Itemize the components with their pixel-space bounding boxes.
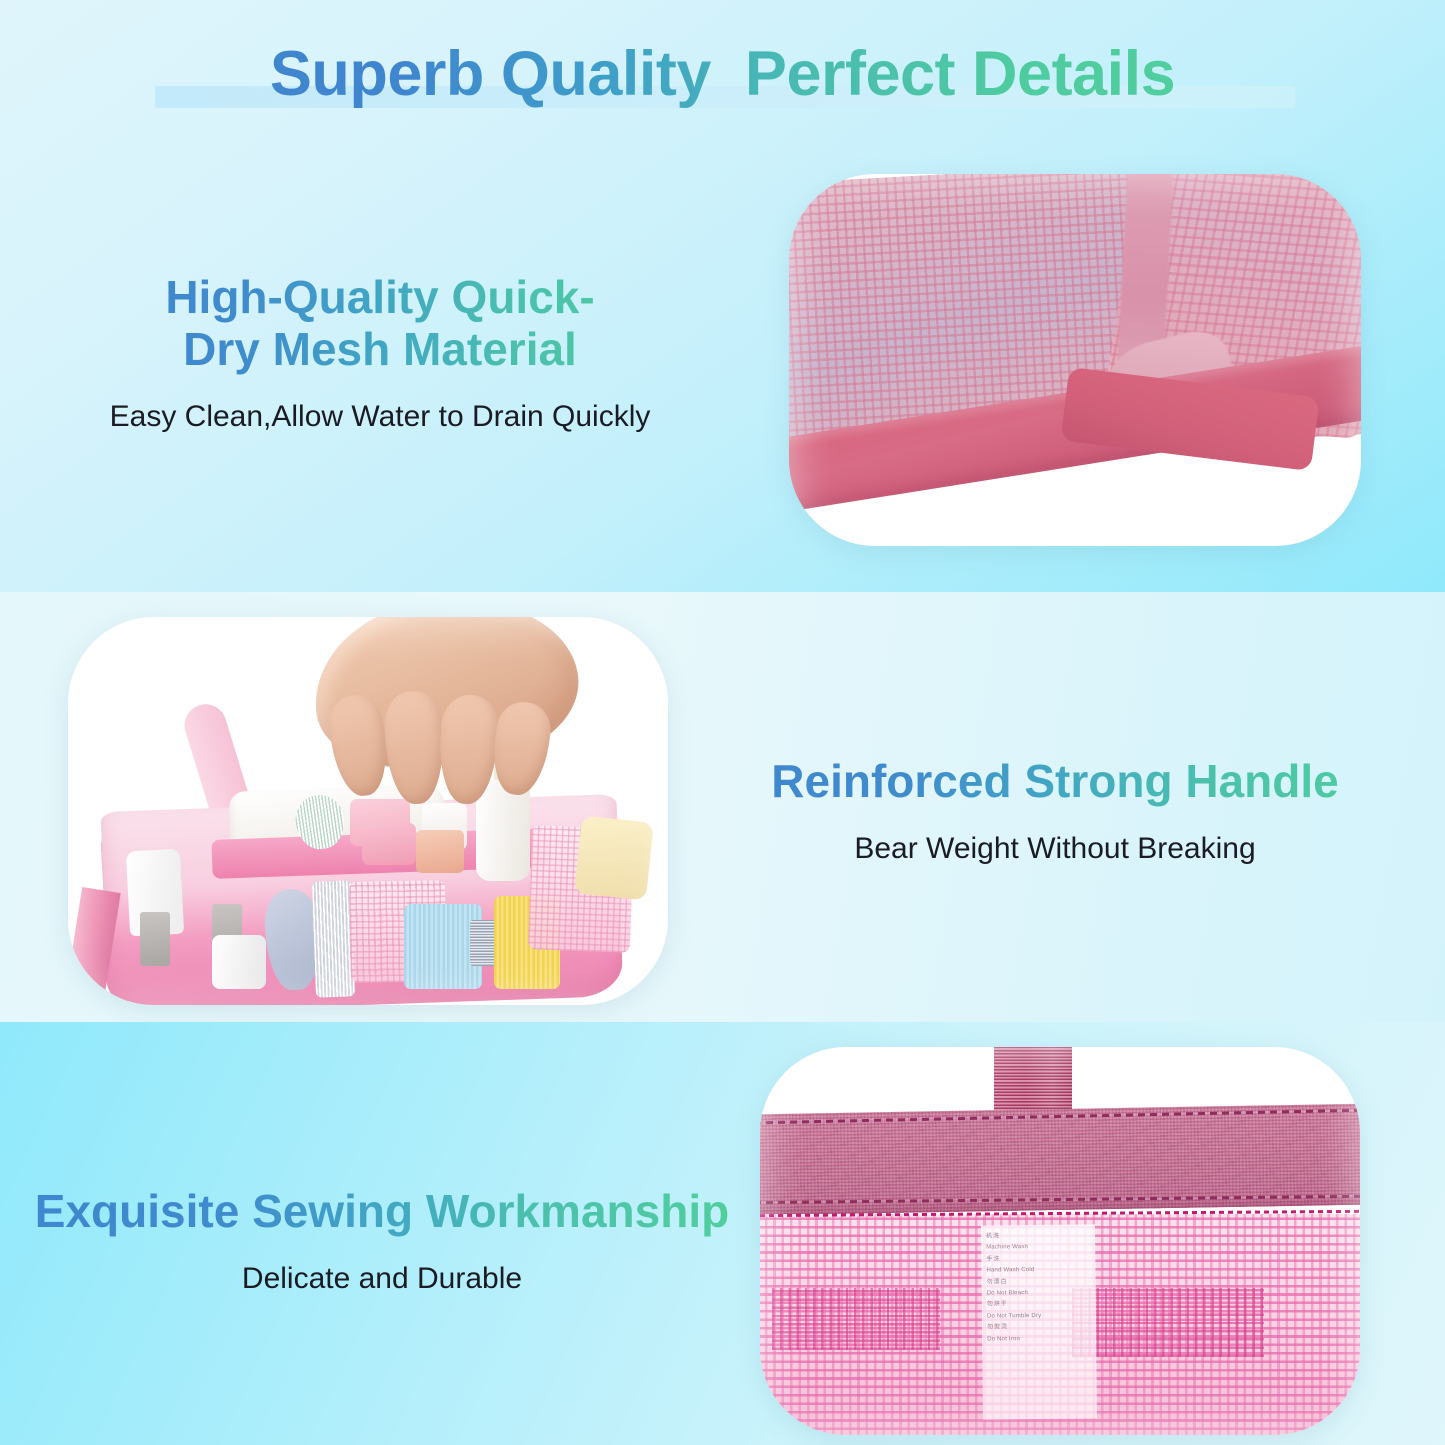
toiletry-sponge [574, 815, 654, 900]
section-strong-handle: Reinforced Strong Handle Bear Weight Wit… [0, 592, 1445, 1022]
care-label-line-4: Do Not Iron [987, 1333, 1091, 1345]
toiletry-jar-white [212, 935, 266, 989]
section-mesh-material: Superb Quality Perfect Details High-Qual… [0, 0, 1445, 592]
product-infographic: Superb Quality Perfect Details High-Qual… [0, 0, 1445, 1445]
feature-image-sewing-workmanship: 机洗 Machine Wash 手洗 Hand Wash Cold 勿漂白 Do… [760, 1047, 1360, 1435]
feature-subtext-mesh-material: Easy Clean,Allow Water to Drain Quickly [44, 398, 716, 436]
feature-heading-strong-handle: Reinforced Strong Handle [690, 756, 1420, 808]
toiletry-jar-pink-2 [362, 823, 416, 866]
section-sewing-workmanship: Exquisite Sewing Workmanship Delicate an… [0, 1022, 1445, 1445]
mesh-dark-patch-right [1072, 1288, 1264, 1358]
mesh-dark-patch-left [772, 1288, 940, 1350]
toiletry-jar-rose [416, 830, 464, 873]
feature-subtext-strong-handle: Bear Weight Without Breaking [690, 830, 1420, 868]
care-label: 机洗 Machine Wash 手洗 Hand Wash Cold 勿漂白 Do… [981, 1225, 1097, 1420]
feature-text-strong-handle: Reinforced Strong Handle Bear Weight Wit… [690, 756, 1420, 867]
feature-heading-sewing-workmanship: Exquisite Sewing Workmanship [12, 1186, 752, 1238]
feature-text-mesh-material: High-Quality Quick- Dry Mesh Material Ea… [44, 272, 716, 435]
toiletry-pump-bottle [476, 780, 530, 881]
page-title: Superb Quality Perfect Details [0, 38, 1445, 110]
caddy-in-hand-photo [68, 617, 668, 1005]
feature-heading-mesh-material: High-Quality Quick- Dry Mesh Material [44, 272, 716, 376]
header: Superb Quality Perfect Details [0, 38, 1445, 118]
mesh-fabric-photo [789, 174, 1361, 546]
sewing-detail-photo: 机洗 Machine Wash 手洗 Hand Wash Cold 勿漂白 Do… [760, 1047, 1360, 1435]
caddy-handle-left [68, 617, 130, 790]
feature-image-mesh-material [789, 174, 1361, 546]
feature-subtext-sewing-workmanship: Delicate and Durable [12, 1260, 752, 1298]
toiletry-grey-item-1 [140, 912, 170, 966]
feature-text-sewing-workmanship: Exquisite Sewing Workmanship Delicate an… [12, 1186, 752, 1297]
feature-image-strong-handle [68, 617, 668, 1005]
